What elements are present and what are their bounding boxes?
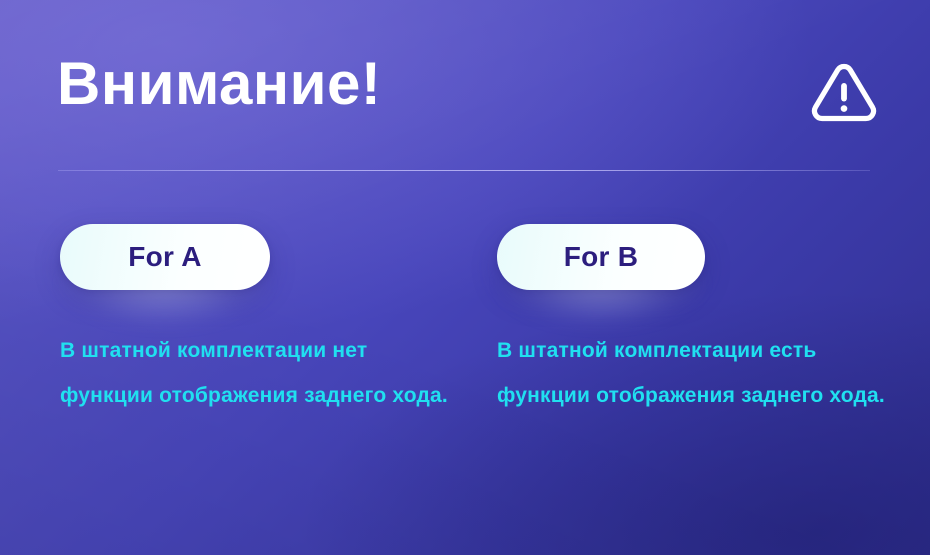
column-b-description: В штатной комплектации есть функции отоб…	[497, 328, 887, 418]
warning-triangle-icon	[808, 60, 880, 128]
pill-a-label: For A	[128, 243, 202, 271]
warning-slide: Внимание! For A В штатной комплектации н…	[0, 0, 930, 555]
pill-button-a[interactable]: For A	[60, 224, 270, 290]
pill-b-label: For B	[564, 243, 639, 271]
pill-a-wrapper: For A	[60, 224, 270, 290]
pill-button-b[interactable]: For B	[497, 224, 705, 290]
pill-b-wrapper: For B	[497, 224, 705, 290]
column-a-description: В штатной комплектации нет функции отобр…	[60, 328, 450, 418]
header-divider	[58, 170, 870, 171]
column-b: For B В штатной комплектации есть функци…	[497, 224, 897, 290]
column-a: For A В штатной комплектации нет функции…	[60, 224, 460, 290]
page-title: Внимание!	[57, 52, 381, 117]
